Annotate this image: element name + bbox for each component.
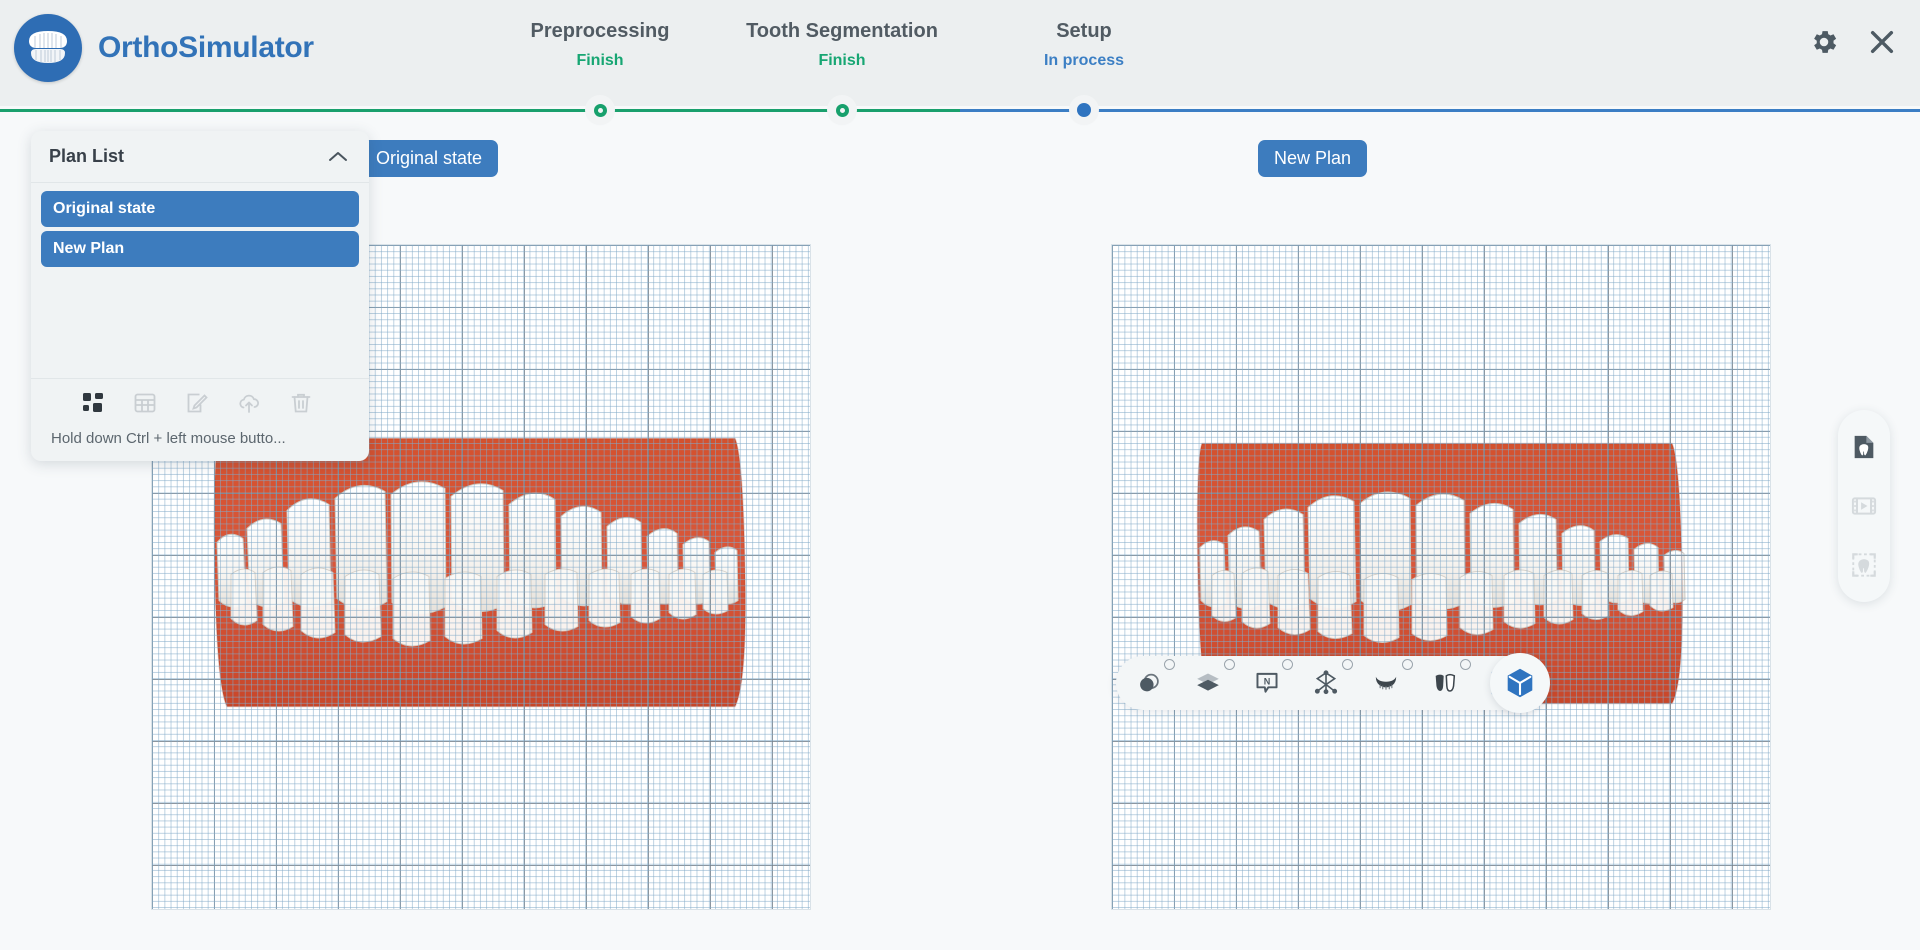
plan-list-header: Plan List [31,131,369,183]
step-node-tooth-segmentation[interactable] [831,99,853,121]
node-ring-icon [594,104,607,117]
step-status: Finish [746,52,938,70]
film-clip-icon [1850,492,1878,520]
dentures-icon [14,14,82,82]
plan-item-label: Original state [53,200,155,218]
axis-tripod-icon[interactable] [1310,668,1342,698]
step-preprocessing[interactable]: Preprocessing Finish [531,20,670,70]
cloud-upload-icon [237,391,261,415]
grid-blocks-icon[interactable] [81,391,105,415]
tooth-document-icon[interactable] [1850,433,1878,461]
plan-item-label: New Plan [53,240,124,258]
node-dot-icon [1077,103,1091,117]
view-options-toolbar: N [1116,656,1542,710]
step-status: In process [1044,52,1124,70]
option-radio[interactable] [1164,659,1175,670]
step-indicator: Preprocessing Finish Tooth Segmentation … [600,20,1240,82]
tooth-crop-icon [1850,551,1878,579]
step-node-preprocessing[interactable] [589,99,611,121]
viewport-label-original-state[interactable]: Original state [360,140,498,177]
app-header: OrthoSimulator Preprocessing Finish Toot… [0,0,1920,106]
gear-icon[interactable] [1808,26,1840,58]
app-title: OrthoSimulator [98,31,314,65]
plan-list-panel: Plan List Original state New Plan [31,131,369,461]
layers-icon[interactable] [1192,668,1224,698]
step-title: Tooth Segmentation [746,20,938,43]
plan-item-original-state[interactable]: Original state [41,191,359,227]
chevron-up-icon[interactable] [327,150,349,164]
trash-icon [289,391,313,415]
node-ring-icon [836,104,849,117]
option-radio[interactable] [1342,659,1353,670]
option-radio[interactable] [1224,659,1235,670]
header-actions [1808,26,1898,58]
plan-item-new-plan[interactable]: New Plan [41,231,359,267]
teeth-pair-icon[interactable] [1430,668,1460,698]
viewport-new-plan[interactable] [1111,244,1771,910]
option-radio[interactable] [1282,659,1293,670]
option-radio[interactable] [1460,659,1471,670]
close-icon[interactable] [1866,26,1898,58]
arch-curve-icon[interactable] [1370,668,1402,698]
table-icon [133,391,157,415]
step-tooth-segmentation[interactable]: Tooth Segmentation Finish [746,20,938,70]
edit-square-icon [185,391,209,415]
plan-list-toolbar [31,378,369,415]
plan-list-items: Original state New Plan [31,183,369,267]
brand: OrthoSimulator [14,14,314,82]
rail-segment-active [960,109,1920,112]
dental-arch-model [201,425,761,730]
viewport-label-new-plan[interactable]: New Plan [1258,140,1367,177]
option-radio[interactable] [1402,659,1413,670]
step-title: Setup [1044,20,1124,43]
plan-list-title: Plan List [49,146,124,167]
step-setup[interactable]: Setup In process [1044,20,1124,70]
svg-text:N: N [1264,676,1271,686]
cube-3d-icon[interactable] [1490,653,1550,713]
rail-segment-done [0,109,960,112]
occlusion-circles-icon[interactable] [1134,668,1164,698]
workspace: Original state New Plan Plan List Origin… [0,106,1920,950]
step-node-setup[interactable] [1073,99,1095,121]
nerve-label-icon[interactable]: N [1252,668,1282,698]
step-title: Preprocessing [531,20,670,43]
side-toolbar [1838,410,1890,602]
plan-list-hint: Hold down Ctrl + left mouse butto... [51,430,286,447]
progress-rail [0,102,1920,118]
step-status: Finish [531,52,670,70]
